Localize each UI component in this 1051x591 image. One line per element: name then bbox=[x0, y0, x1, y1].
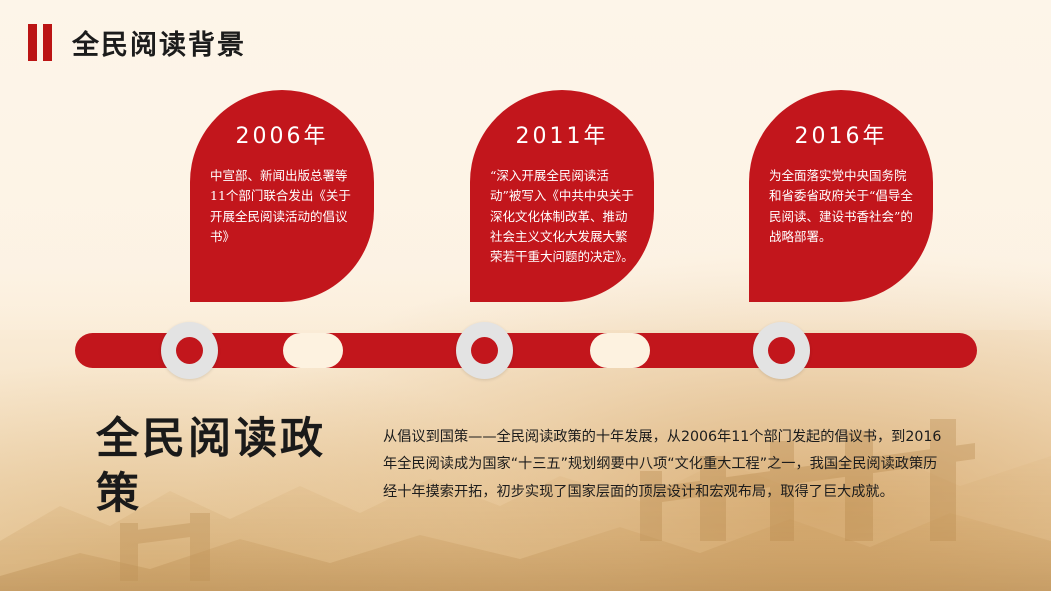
bottom-heading: 全民阅读政策 bbox=[96, 412, 346, 522]
timeline-bar bbox=[75, 333, 977, 368]
timeline-card-description: “深入开展全民阅读活动”被写入《中共中央关于深化文化体制改革、推动社会主义文化大… bbox=[490, 166, 634, 267]
timeline-node-2 bbox=[456, 322, 513, 379]
timeline-card-2016: 2016年 为全面落实党中央国务院和省委省政府关于“倡导全民阅读、建设书香社会”… bbox=[749, 90, 933, 302]
header-accent-bars-icon bbox=[28, 24, 52, 61]
timeline-card-description: 为全面落实党中央国务院和省委省政府关于“倡导全民阅读、建设书香社会”的战略部署。 bbox=[769, 166, 913, 247]
timeline-node-3 bbox=[753, 322, 810, 379]
timeline-card-year: 2011年 bbox=[490, 118, 634, 150]
timeline-node-1 bbox=[161, 322, 218, 379]
timeline-card-description: 中宣部、新闻出版总署等11个部门联合发出《关于开展全民阅读活动的倡议书》 bbox=[210, 166, 354, 247]
timeline-gap-2 bbox=[590, 333, 650, 368]
timeline-card-2011: 2011年 “深入开展全民阅读活动”被写入《中共中央关于深化文化体制改革、推动社… bbox=[470, 90, 654, 302]
timeline-card-year: 2006年 bbox=[210, 118, 354, 150]
timeline-card-2006: 2006年 中宣部、新闻出版总署等11个部门联合发出《关于开展全民阅读活动的倡议… bbox=[190, 90, 374, 302]
bottom-paragraph: 从倡议到国策——全民阅读政策的十年发展，从2006年11个部门发起的倡议书，到2… bbox=[383, 424, 943, 506]
slide: 全民阅读背景 2006年 中宣部、新闻出版总署等11个部门联合发出《关于开展全民… bbox=[0, 0, 1051, 591]
page-header: 全民阅读背景 bbox=[28, 22, 246, 62]
page-title: 全民阅读背景 bbox=[72, 23, 246, 62]
timeline-card-year: 2016年 bbox=[769, 118, 913, 150]
timeline-gap-1 bbox=[283, 333, 343, 368]
